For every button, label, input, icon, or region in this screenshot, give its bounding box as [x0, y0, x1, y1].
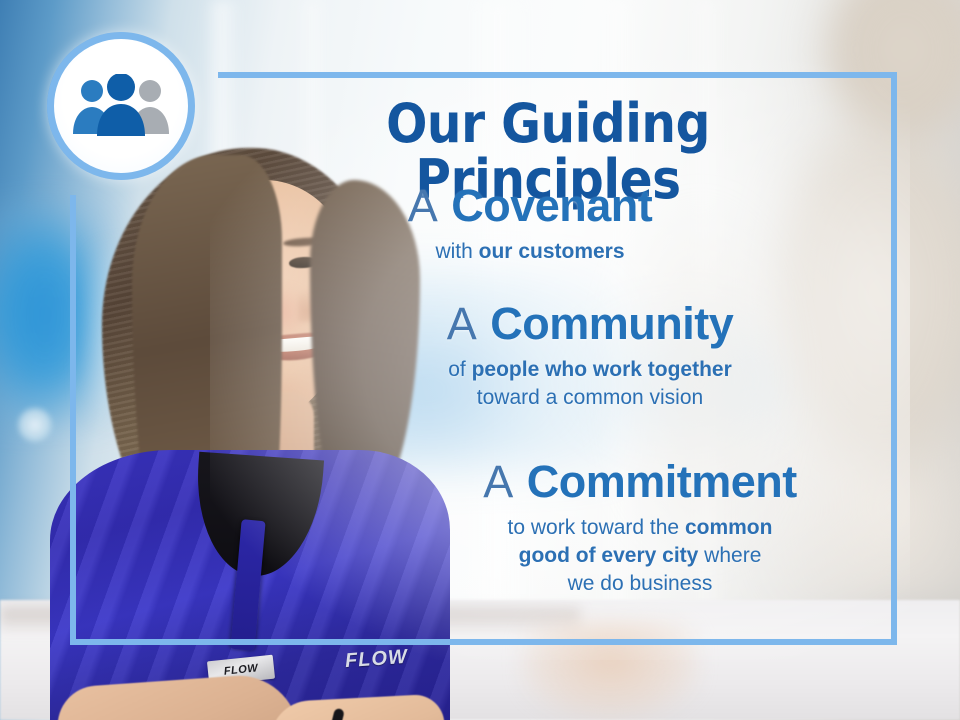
subtext-emphasis: our customers — [479, 240, 625, 263]
principle-keyword: Covenant — [451, 180, 652, 231]
subtext-plain: we do business — [568, 572, 713, 595]
principle-covenant: A Covenant with our customers — [280, 182, 780, 266]
principle-community: A Community of people who work togethert… — [330, 300, 850, 412]
principle-article: A — [408, 180, 439, 231]
principle-keyword: Community — [490, 298, 733, 349]
subtext-emphasis: good of every city — [519, 544, 699, 567]
subtext-plain: where — [698, 544, 761, 567]
principle-commitment: A Commitment to work toward the commongo… — [390, 458, 890, 599]
copy-block: Our Guiding Principles A Covenant with o… — [0, 0, 960, 720]
principle-subtext: to work toward the commongood of every c… — [390, 514, 890, 599]
subtext-emphasis: people who work together — [472, 358, 732, 381]
subtext-plain: toward a common vision — [477, 386, 703, 409]
subtext-plain: with — [435, 240, 478, 263]
principle-keyword: Commitment — [527, 456, 797, 507]
principle-headline: A Commitment — [390, 458, 890, 506]
promo-banner: FLOW FLOW Our Guiding — [0, 0, 960, 720]
principle-headline: A Covenant — [280, 182, 780, 230]
principle-subtext: with our customers — [280, 238, 780, 266]
subtext-plain: of — [448, 358, 471, 381]
principle-subtext: of people who work togethertoward a comm… — [330, 356, 850, 412]
principle-article: A — [447, 298, 478, 349]
subtext-emphasis: common — [685, 516, 773, 539]
principle-headline: A Community — [330, 300, 850, 348]
subtext-plain: to work toward the — [508, 516, 685, 539]
principle-article: A — [483, 456, 514, 507]
